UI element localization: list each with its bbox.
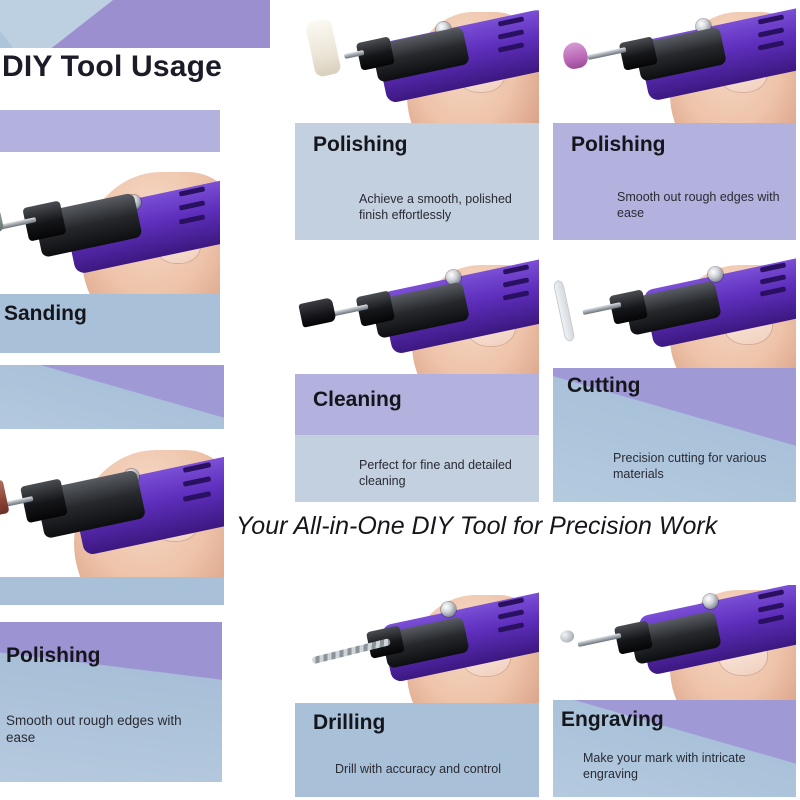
bit-polishing-stone-pink — [561, 41, 590, 71]
card-cleaning-desc: Perfect for fine and detailed cleaning — [359, 457, 539, 489]
card-drilling-meta: Drilling Drill with accuracy and control — [295, 703, 539, 797]
card-polishing-left[interactable]: Polishing Smooth out rough edges with ea… — [0, 622, 222, 782]
card-polishing-stone-desc: Smooth out rough edges with ease — [617, 189, 792, 221]
card-cleaning[interactable]: Cleaning Perfect for fine and detailed c… — [292, 255, 542, 505]
card-cleaning-title-band: Cleaning — [295, 374, 539, 435]
tagline: Your All-in-One DIY Tool for Precision W… — [236, 512, 717, 541]
card-polishing-left-desc: Smooth out rough edges with ease — [6, 712, 186, 747]
card-drum-photo — [0, 429, 224, 577]
card-sanding[interactable]: Sanding — [0, 110, 220, 353]
card-drilling-desc: Drill with accuracy and control — [335, 761, 539, 777]
card-polishing-left-title: Polishing — [6, 644, 101, 668]
bit-wire-brush — [298, 298, 336, 329]
card-sanding-meta: Sanding — [0, 294, 220, 353]
card-polishing-stone[interactable]: Polishing Smooth out rough edges with ea… — [550, 2, 799, 243]
page-title: DIY Tool Usage — [2, 50, 222, 84]
card-sanding-title: Sanding — [4, 302, 87, 326]
bit-polishing-wheel-felt — [304, 17, 341, 77]
card-polishing-felt[interactable]: Polishing Achieve a smooth, polished fin… — [292, 2, 542, 243]
card-polishing-stone-meta: Polishing Smooth out rough edges with ea… — [553, 123, 796, 240]
card-engraving[interactable]: Engraving Make your mark with intricate … — [550, 582, 799, 800]
card-drum-header-band — [0, 365, 224, 429]
card-cutting-meta: Cutting Precision cutting for various ma… — [553, 368, 796, 502]
card-sanding-drum[interactable] — [0, 365, 224, 605]
card-polishing-felt-title: Polishing — [313, 133, 408, 157]
bit-engraving-burr — [559, 629, 575, 644]
bit-cutting-disc — [554, 281, 574, 341]
card-drilling-photo — [295, 591, 539, 703]
card-engraving-desc: Make your mark with intricate engraving — [583, 750, 783, 782]
decorative-corner-banner — [0, 0, 270, 48]
card-polishing-felt-desc: Achieve a smooth, polished finish effort… — [359, 191, 539, 223]
card-engraving-photo — [553, 585, 796, 700]
card-engraving-title: Engraving — [561, 708, 664, 732]
card-engraving-meta: Engraving Make your mark with intricate … — [553, 700, 796, 797]
card-cutting-desc: Precision cutting for various materials — [613, 450, 793, 482]
card-cleaning-title: Cleaning — [313, 388, 402, 412]
card-polishing-felt-photo — [295, 5, 539, 123]
card-polishing-stone-photo — [553, 5, 796, 123]
card-drum-meta — [0, 577, 224, 605]
bit-sanding-drum — [0, 480, 10, 519]
card-cutting[interactable]: Cutting Precision cutting for various ma… — [550, 255, 799, 505]
card-cutting-title: Cutting — [567, 374, 640, 398]
card-cleaning-photo — [295, 258, 539, 374]
card-polishing-felt-meta: Polishing Achieve a smooth, polished fin… — [295, 123, 539, 240]
card-cutting-photo — [553, 258, 796, 368]
card-sanding-header-band — [0, 110, 220, 152]
card-polishing-stone-title: Polishing — [571, 133, 666, 157]
card-sanding-photo — [0, 152, 220, 294]
card-drilling-title: Drilling — [313, 711, 385, 735]
card-cleaning-desc-band: Perfect for fine and detailed cleaning — [295, 435, 539, 502]
poster-canvas: DIY Tool Usage Sanding — [0, 0, 800, 800]
card-drilling[interactable]: Drilling Drill with accuracy and control — [292, 588, 542, 800]
